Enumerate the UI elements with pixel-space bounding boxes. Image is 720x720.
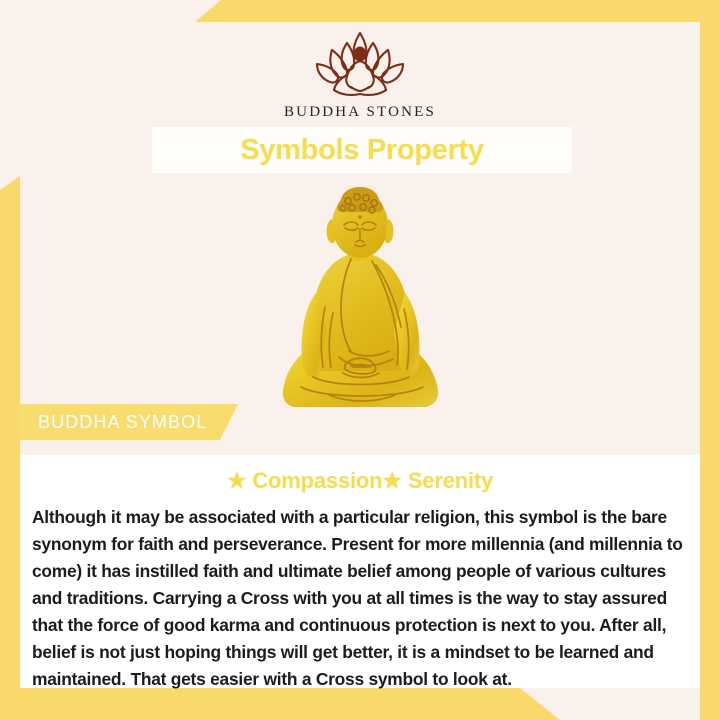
buddha-symbol-ribbon: BUDDHA SYMBOL (20, 404, 238, 440)
title-banner: Symbols Property (152, 127, 572, 173)
brand-name: BUDDHA STONES (284, 104, 436, 121)
content-panel: ★ Compassion★ Serenity Although it may b… (20, 455, 700, 688)
seated-buddha-illustration-icon (253, 181, 468, 413)
page-title: Symbols Property (240, 134, 483, 167)
infographic-card: BUDDHA STONES Symbols Property (0, 0, 720, 720)
lotus-meditation-icon (301, 0, 419, 98)
ribbon-label: BUDDHA SYMBOL (20, 412, 207, 433)
content-subtitle: ★ Compassion★ Serenity (20, 455, 700, 494)
brand-header: BUDDHA STONES (20, 0, 700, 121)
hero-image (0, 178, 720, 413)
content-paragraph: Although it may be associated with a par… (20, 494, 700, 693)
